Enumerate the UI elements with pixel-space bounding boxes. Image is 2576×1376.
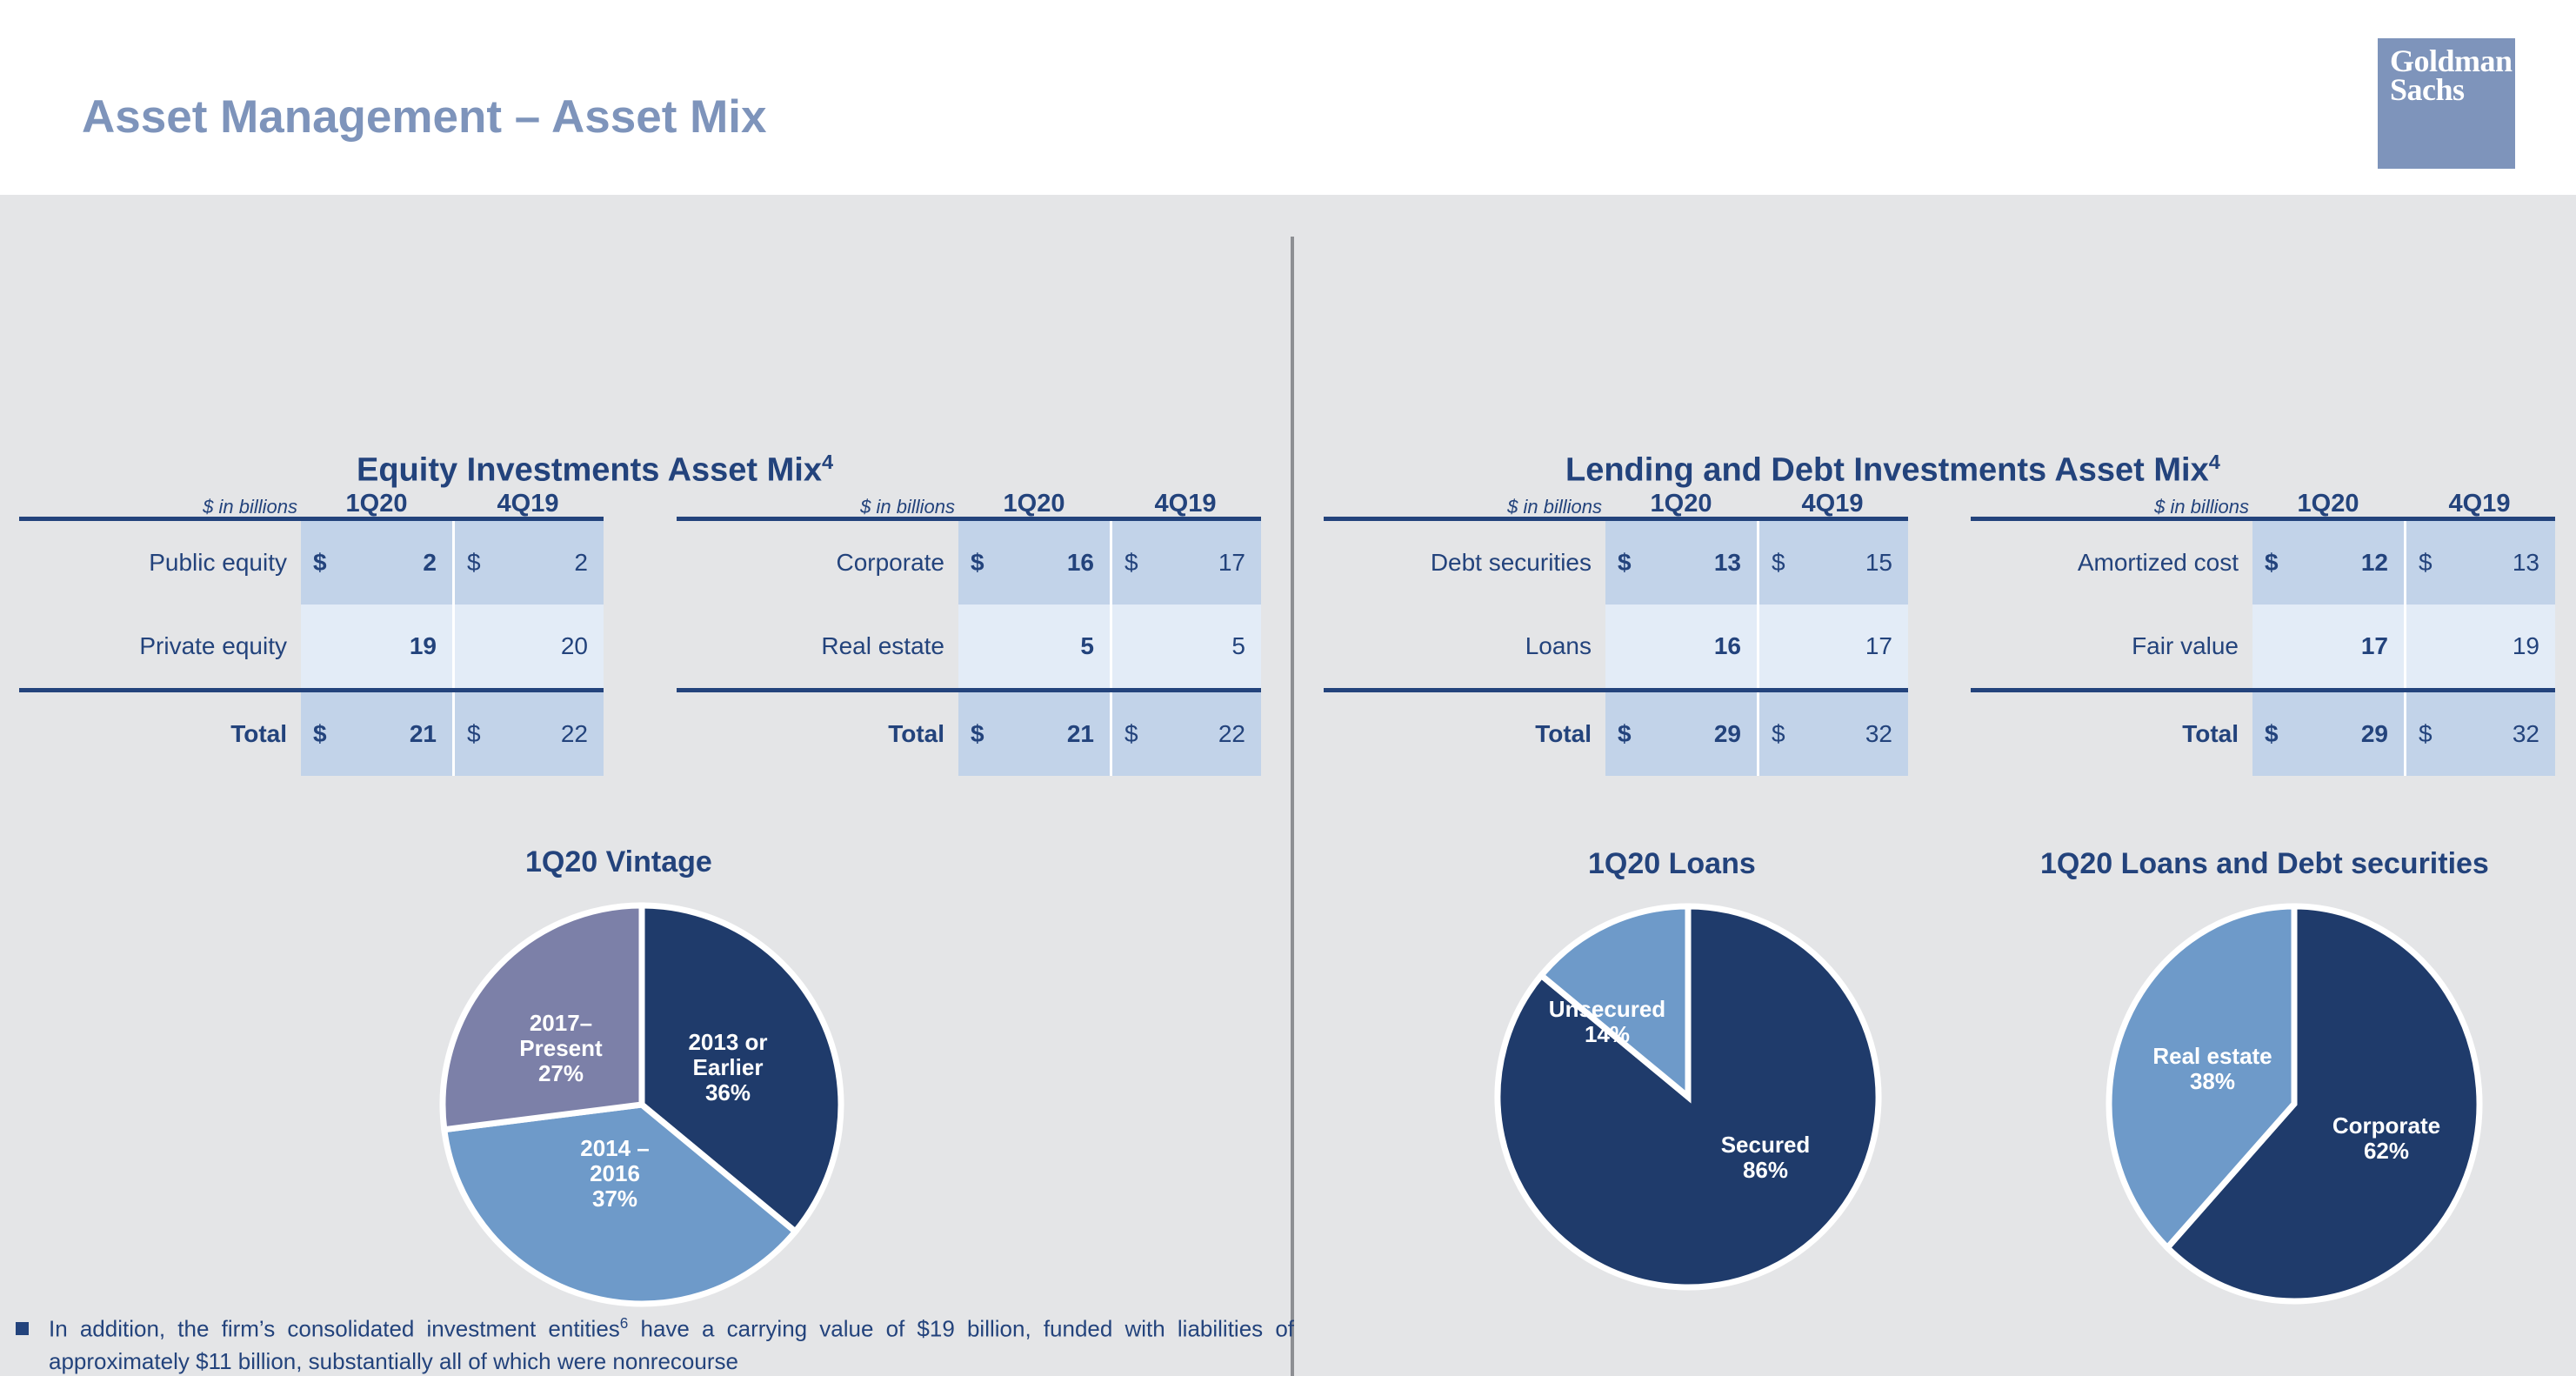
footnote-superscript: 6 <box>620 1314 629 1332</box>
pie-slice-label-2017-present: 2017– Present 27% <box>478 1011 644 1086</box>
cell-current: 16 <box>1605 605 1757 688</box>
column-header-current: 1Q20 <box>1605 491 1757 517</box>
currency-symbol: $ <box>971 720 984 748</box>
cell-value: 19 <box>2513 632 2539 660</box>
table-row: Private equity 19 20 <box>19 605 604 688</box>
table-total-row: Total $ 29 $ 32 <box>1324 692 1908 776</box>
cell-value: 22 <box>561 720 588 748</box>
cell-current: $ 2 <box>301 521 452 605</box>
currency-symbol: $ <box>313 549 327 577</box>
row-label: Private equity <box>19 605 301 688</box>
table-row: Debt securities $ 13 $ 15 <box>1324 521 1908 605</box>
cell-value: 17 <box>2361 632 2388 660</box>
row-label: Public equity <box>19 521 301 605</box>
column-header-current: 1Q20 <box>2252 491 2404 517</box>
table-total-row: Total $ 21 $ 22 <box>677 692 1261 776</box>
units-label: $ in billions <box>677 498 958 517</box>
pie-slice-label-corporate: Corporate 62% <box>2301 1113 2472 1164</box>
currency-symbol: $ <box>1124 549 1138 577</box>
column-header-previous: 4Q19 <box>452 491 604 517</box>
section-divider <box>1291 237 1294 1376</box>
cell-value: 29 <box>2361 720 2388 748</box>
pie-chart-loans-debt: Corporate 62% Real estate 38% <box>2103 901 2486 1306</box>
table-total-row: Total $ 21 $ 22 <box>19 692 604 776</box>
cell-current: 19 <box>301 605 452 688</box>
row-label: Debt securities <box>1324 521 1605 605</box>
pie-chart-loans-debt-svg <box>2103 901 2486 1306</box>
table-equity-by-sector: $ in billions 1Q20 4Q19 Corporate $ 16 $… <box>677 475 1261 776</box>
cell-value: 13 <box>2513 549 2539 577</box>
cell-value: 32 <box>1865 720 1892 748</box>
currency-symbol: $ <box>1124 720 1138 748</box>
column-header-previous: 4Q19 <box>1757 491 1908 517</box>
row-label: Total <box>1324 692 1605 776</box>
pie-chart-vintage: 2013 or Earlier 36% 2014 – 2016 37% 2017… <box>437 899 847 1310</box>
cell-current: $ 29 <box>2252 692 2404 776</box>
cell-current: $ 21 <box>958 692 1110 776</box>
cell-value: 20 <box>561 632 588 660</box>
cell-previous: $ 32 <box>2404 692 2555 776</box>
units-label: $ in billions <box>1971 498 2252 517</box>
table-header-row: $ in billions 1Q20 4Q19 <box>677 475 1261 517</box>
table-header-row: $ in billions 1Q20 4Q19 <box>1971 475 2555 517</box>
table-row: Public equity $ 2 $ 2 <box>19 521 604 605</box>
cell-previous: $ 15 <box>1757 521 1908 605</box>
footnote-part-1: In addition, the firm’s consolidated inv… <box>49 1316 620 1342</box>
cell-current: $ 21 <box>301 692 452 776</box>
slide-root: Asset Management – Asset Mix Goldman Sac… <box>0 0 2576 1376</box>
table-row: Loans 16 17 <box>1324 605 1908 688</box>
column-header-current: 1Q20 <box>958 491 1110 517</box>
currency-symbol: $ <box>1772 549 1785 577</box>
cell-value: 2 <box>574 549 588 577</box>
cell-previous: 20 <box>452 605 604 688</box>
cell-value: 32 <box>2513 720 2539 748</box>
row-label: Total <box>19 692 301 776</box>
cell-previous: $ 22 <box>452 692 604 776</box>
cell-current: 17 <box>2252 605 2404 688</box>
row-label: Amortized cost <box>1971 521 2252 605</box>
cell-previous: $ 22 <box>1110 692 1261 776</box>
pie-chart-loans: Secured 86% Unsecured 14% <box>1492 901 1884 1293</box>
column-header-previous: 4Q19 <box>1110 491 1261 517</box>
chart-title-loans: 1Q20 Loans <box>1588 847 1756 881</box>
table-total-row: Total $ 29 $ 32 <box>1971 692 2555 776</box>
pie-slice-label-secured: Secured 86% <box>1680 1132 1851 1183</box>
pie-chart-loans-svg <box>1492 901 1884 1293</box>
currency-symbol: $ <box>467 549 481 577</box>
row-label: Real estate <box>677 605 958 688</box>
table-equity-by-type: $ in billions 1Q20 4Q19 Public equity $ … <box>19 475 604 776</box>
section-title-equity-superscript: 4 <box>822 451 833 473</box>
footnote: In addition, the firm’s consolidated inv… <box>16 1313 1294 1376</box>
cell-value: 2 <box>423 549 437 577</box>
page-title: Asset Management – Asset Mix <box>82 90 766 144</box>
table-header-row: $ in billions 1Q20 4Q19 <box>1324 475 1908 517</box>
cell-previous: 19 <box>2404 605 2555 688</box>
cell-value: 5 <box>1080 632 1094 660</box>
currency-symbol: $ <box>2265 720 2279 748</box>
section-title-lending-superscript: 4 <box>2209 451 2220 473</box>
row-label: Total <box>677 692 958 776</box>
column-header-previous: 4Q19 <box>2404 491 2555 517</box>
cell-value: 19 <box>410 632 437 660</box>
cell-current: $ 12 <box>2252 521 2404 605</box>
currency-symbol: $ <box>2419 720 2433 748</box>
units-label: $ in billions <box>19 498 301 517</box>
currency-symbol: $ <box>467 720 481 748</box>
table-header-row: $ in billions 1Q20 4Q19 <box>19 475 604 517</box>
cell-value: 29 <box>1714 720 1741 748</box>
cell-current: $ 13 <box>1605 521 1757 605</box>
currency-symbol: $ <box>313 720 327 748</box>
chart-title-vintage: 1Q20 Vintage <box>525 845 712 879</box>
goldman-sachs-logo: Goldman Sachs <box>2378 38 2515 169</box>
logo-line-2: Sachs <box>2390 76 2513 104</box>
cell-previous: $ 17 <box>1110 521 1261 605</box>
cell-value: 17 <box>1865 632 1892 660</box>
currency-symbol: $ <box>1772 720 1785 748</box>
cell-current: 5 <box>958 605 1110 688</box>
cell-value: 16 <box>1714 632 1741 660</box>
cell-previous: $ 2 <box>452 521 604 605</box>
pie-slice-label-2014-2016: 2014 – 2016 37% <box>532 1136 697 1212</box>
cell-current: $ 29 <box>1605 692 1757 776</box>
pie-slice-label-2013-or-earlier: 2013 or Earlier 36% <box>645 1030 811 1105</box>
table-row: Fair value 17 19 <box>1971 605 2555 688</box>
cell-value: 5 <box>1231 632 1245 660</box>
cell-value: 12 <box>2361 549 2388 577</box>
cell-value: 22 <box>1218 720 1245 748</box>
currency-symbol: $ <box>2419 549 2433 577</box>
currency-symbol: $ <box>971 549 984 577</box>
table-row: Amortized cost $ 12 $ 13 <box>1971 521 2555 605</box>
cell-value: 13 <box>1714 549 1741 577</box>
cell-previous: $ 32 <box>1757 692 1908 776</box>
cell-value: 15 <box>1865 549 1892 577</box>
slide-header: Asset Management – Asset Mix Goldman Sac… <box>0 0 2576 195</box>
cell-value: 17 <box>1218 549 1245 577</box>
currency-symbol: $ <box>2265 549 2279 577</box>
slide-body: Equity Investments Asset Mix4 Lending an… <box>0 195 2576 1376</box>
currency-symbol: $ <box>1618 720 1632 748</box>
table-lending-by-type: $ in billions 1Q20 4Q19 Debt securities … <box>1324 475 1908 776</box>
row-label: Corporate <box>677 521 958 605</box>
cell-value: 21 <box>1067 720 1094 748</box>
cell-current: $ 16 <box>958 521 1110 605</box>
cell-previous: 5 <box>1110 605 1261 688</box>
currency-symbol: $ <box>1618 549 1632 577</box>
row-label: Fair value <box>1971 605 2252 688</box>
table-row: Corporate $ 16 $ 17 <box>677 521 1261 605</box>
cell-previous: $ 13 <box>2404 521 2555 605</box>
column-header-current: 1Q20 <box>301 491 452 517</box>
pie-slice-label-real-estate: Real estate 38% <box>2126 1044 2299 1094</box>
row-label: Total <box>1971 692 2252 776</box>
table-row: Real estate 5 5 <box>677 605 1261 688</box>
cell-previous: 17 <box>1757 605 1908 688</box>
units-label: $ in billions <box>1324 498 1605 517</box>
footnote-text: In addition, the firm’s consolidated inv… <box>16 1313 1294 1376</box>
logo-text: Goldman Sachs <box>2390 47 2513 104</box>
bullet-icon <box>16 1322 29 1335</box>
pie-slice-label-unsecured: Unsecured 14% <box>1520 997 1694 1047</box>
cell-value: 16 <box>1067 549 1094 577</box>
row-label: Loans <box>1324 605 1605 688</box>
table-lending-by-measurement: $ in billions 1Q20 4Q19 Amortized cost $… <box>1971 475 2555 776</box>
cell-value: 21 <box>410 720 437 748</box>
chart-title-loans-debt: 1Q20 Loans and Debt securities <box>2040 847 2489 881</box>
